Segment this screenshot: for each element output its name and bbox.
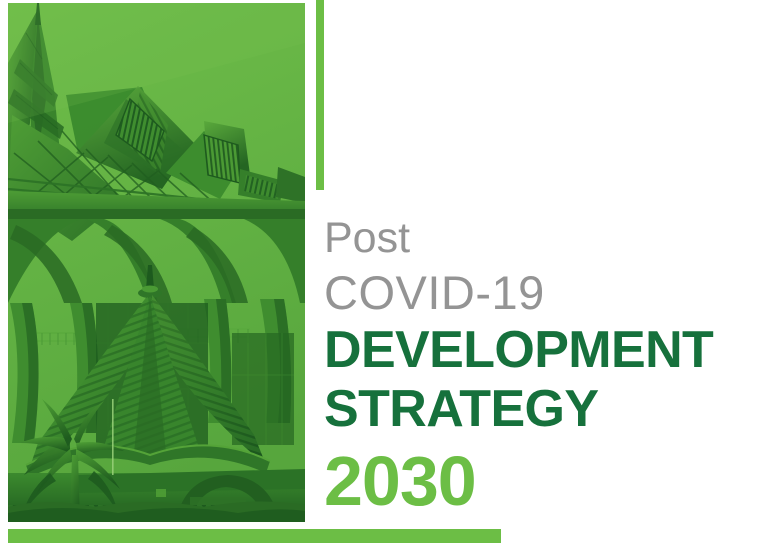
headline-line-strategy: STRATEGY (324, 380, 754, 439)
report-cover-page: Post COVID-19 DEVELOPMENT STRATEGY 2030 (0, 0, 761, 549)
building-photograph-illustration (8, 3, 305, 522)
bottom-accent-bar (8, 529, 501, 543)
vertical-accent-rule (316, 0, 324, 190)
cover-title-block: Post COVID-19 DEVELOPMENT STRATEGY 2030 (324, 212, 754, 519)
headline-line-development: DEVELOPMENT (324, 321, 754, 380)
kicker-line-covid19: COVID-19 (324, 264, 754, 321)
cover-year: 2030 (324, 443, 754, 519)
kicker-line-post: Post (324, 212, 754, 264)
cover-photo (8, 3, 305, 522)
